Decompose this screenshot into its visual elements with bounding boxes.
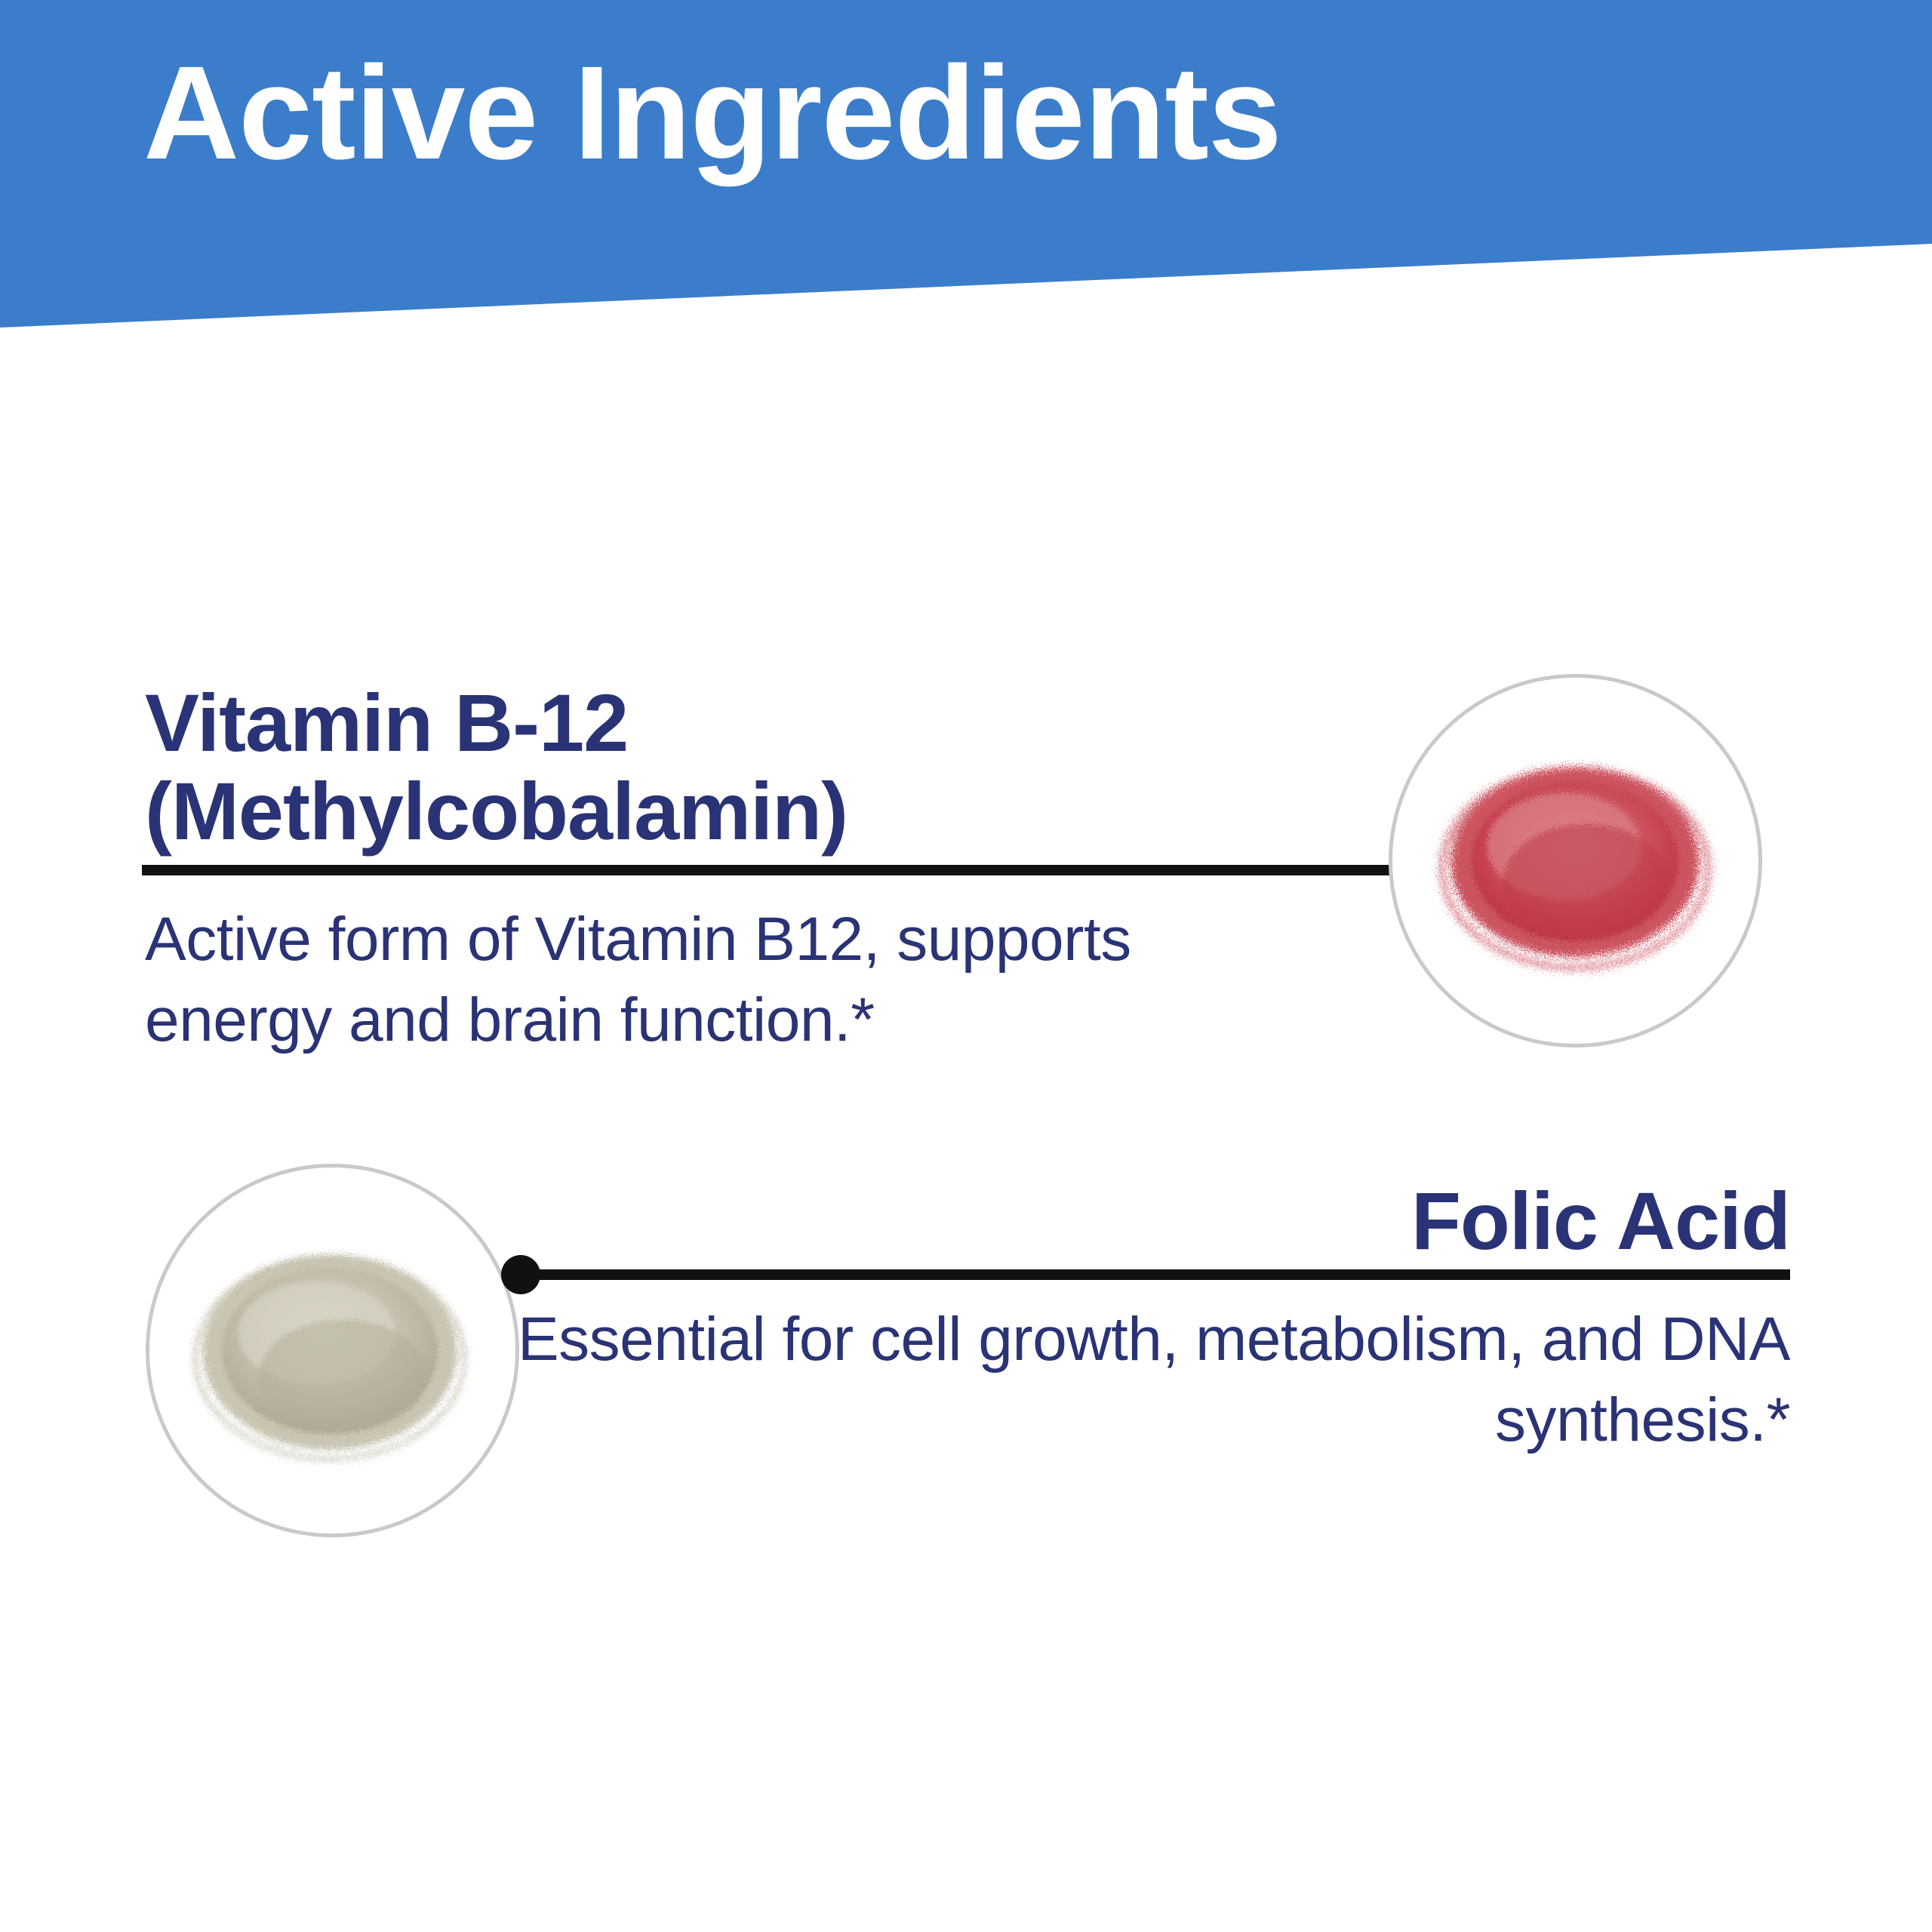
ingredient-description-folic-acid: Essential for cell growth, metabolism, a…: [515, 1300, 1790, 1460]
ingredient-title-folic-acid: Folic Acid: [734, 1177, 1790, 1266]
connector-line-folic-acid: [521, 1269, 1790, 1280]
ingredient-title-line-2: (Methylcobalamin): [145, 768, 1126, 856]
ingredient-title-vitamin-b12: Vitamin B-12 (Methylcobalamin): [145, 679, 1126, 855]
beige-powder-swatch: [149, 1168, 515, 1534]
header-banner: Active Ingredients: [0, 0, 1932, 332]
ingredient-image-circle-vitamin-b12: [1389, 674, 1762, 1048]
ingredient-title-line-1: Vitamin B-12: [145, 679, 1126, 768]
ingredient-image-circle-folic-acid: [146, 1164, 519, 1537]
red-powder-swatch: [1392, 678, 1758, 1044]
connector-line-vitamin-b12: [142, 865, 1417, 875]
ingredient-description-vitamin-b12: Active form of Vitamin B12, supports ene…: [145, 900, 1277, 1060]
ingredient-title-line-1: Folic Acid: [734, 1177, 1790, 1266]
infographic-canvas: Active Ingredients Vitamin B-12 (Methylc…: [0, 0, 1932, 1932]
page-title: Active Ingredients: [143, 44, 1281, 183]
